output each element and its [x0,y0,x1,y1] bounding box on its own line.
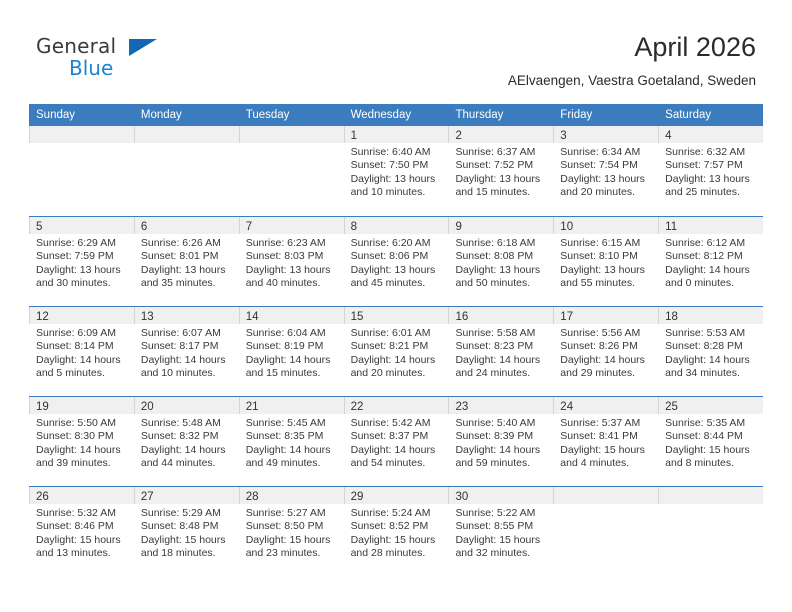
day-details: Sunrise: 5:29 AMSunset: 8:48 PMDaylight:… [134,504,239,561]
sunrise-time: Sunrise: 6:32 AM [665,146,758,159]
calendar-week-row: 1Sunrise: 6:40 AMSunset: 7:50 PMDaylight… [29,126,763,216]
sunset-time: Sunset: 8:10 PM [560,250,653,263]
day-cell[interactable]: 27Sunrise: 5:29 AMSunset: 8:48 PMDayligh… [134,487,239,576]
day-number: 20 [141,401,154,413]
sunset-time: Sunset: 7:57 PM [665,159,758,172]
daylight-duration-line1: Daylight: 15 hours [455,534,548,547]
sunset-time: Sunset: 8:41 PM [560,430,653,443]
sunrise-time: Sunrise: 6:34 AM [560,146,653,159]
sunrise-time: Sunrise: 6:09 AM [36,327,129,340]
day-number: 1 [351,130,357,142]
day-details: Sunrise: 6:34 AMSunset: 7:54 PMDaylight:… [553,143,658,200]
day-number-band: 23 [448,397,553,414]
daylight-duration-line2: and 35 minutes. [141,277,234,290]
daylight-duration-line2: and 45 minutes. [351,277,444,290]
sunrise-time: Sunrise: 6:04 AM [246,327,339,340]
daylight-duration-line2: and 24 minutes. [455,367,548,380]
day-number: 11 [665,221,677,233]
day-number-band: 17 [553,307,658,324]
weekday-header-friday: Friday [553,104,658,126]
sunset-time: Sunset: 8:55 PM [455,520,548,533]
day-number: 30 [455,491,468,503]
calendar-week-row: 5Sunrise: 6:29 AMSunset: 7:59 PMDaylight… [29,216,763,306]
daylight-duration-line1: Daylight: 14 hours [246,444,339,457]
daylight-duration-line2: and 39 minutes. [36,457,129,470]
day-details: Sunrise: 5:45 AMSunset: 8:35 PMDaylight:… [239,414,344,471]
sunrise-time: Sunrise: 5:22 AM [455,507,548,520]
sunset-time: Sunset: 8:52 PM [351,520,444,533]
day-number-band: 13 [134,307,239,324]
day-number: 28 [246,491,259,503]
day-details: Sunrise: 5:42 AMSunset: 8:37 PMDaylight:… [344,414,449,471]
daylight-duration-line2: and 10 minutes. [141,367,234,380]
day-cell[interactable]: 11Sunrise: 6:12 AMSunset: 8:12 PMDayligh… [658,217,763,306]
day-number: 2 [455,130,461,142]
weekday-header-saturday: Saturday [658,104,763,126]
day-details: Sunrise: 6:12 AMSunset: 8:12 PMDaylight:… [658,234,763,291]
day-number: 29 [351,491,364,503]
day-number-band [29,126,134,143]
day-number: 5 [36,221,42,233]
day-cell-empty [658,487,763,576]
day-cell[interactable]: 7Sunrise: 6:23 AMSunset: 8:03 PMDaylight… [239,217,344,306]
sunset-time: Sunset: 8:01 PM [141,250,234,263]
sunrise-time: Sunrise: 5:24 AM [351,507,444,520]
day-number: 12 [36,311,49,323]
daylight-duration-line1: Daylight: 14 hours [141,354,234,367]
day-number: 9 [455,221,461,233]
day-number-band [134,126,239,143]
calendar-grid: SundayMondayTuesdayWednesdayThursdayFrid… [29,104,763,576]
day-cell-empty [553,487,658,576]
sunset-time: Sunset: 8:26 PM [560,340,653,353]
daylight-duration-line2: and 18 minutes. [141,547,234,560]
day-number: 17 [560,311,573,323]
daylight-duration-line2: and 15 minutes. [246,367,339,380]
calendar-week-row: 19Sunrise: 5:50 AMSunset: 8:30 PMDayligh… [29,396,763,486]
daylight-duration-line1: Daylight: 13 hours [36,264,129,277]
day-number-band: 10 [553,217,658,234]
sunset-time: Sunset: 7:59 PM [36,250,129,263]
day-cell-empty [134,126,239,216]
sunset-time: Sunset: 8:06 PM [351,250,444,263]
sunset-time: Sunset: 8:46 PM [36,520,129,533]
triangle-icon [129,39,157,56]
sunrise-time: Sunrise: 5:53 AM [665,327,758,340]
day-cell[interactable]: 2Sunrise: 6:37 AMSunset: 7:52 PMDaylight… [448,126,553,216]
sunrise-time: Sunrise: 6:37 AM [455,146,548,159]
daylight-duration-line1: Daylight: 15 hours [351,534,444,547]
day-details: Sunrise: 5:56 AMSunset: 8:26 PMDaylight:… [553,324,658,381]
calendar-weeks: 1Sunrise: 6:40 AMSunset: 7:50 PMDaylight… [29,126,763,576]
sunrise-time: Sunrise: 6:07 AM [141,327,234,340]
day-details: Sunrise: 6:07 AMSunset: 8:17 PMDaylight:… [134,324,239,381]
weekday-header-wednesday: Wednesday [344,104,449,126]
daylight-duration-line1: Daylight: 14 hours [665,264,758,277]
daylight-duration-line2: and 49 minutes. [246,457,339,470]
weekday-header-sunday: Sunday [29,104,134,126]
daylight-duration-line2: and 40 minutes. [246,277,339,290]
day-number: 26 [36,491,49,503]
sunrise-time: Sunrise: 6:15 AM [560,237,653,250]
daylight-duration-line2: and 5 minutes. [36,367,129,380]
daylight-duration-line1: Daylight: 13 hours [351,173,444,186]
daylight-duration-line1: Daylight: 14 hours [351,444,444,457]
day-details: Sunrise: 5:48 AMSunset: 8:32 PMDaylight:… [134,414,239,471]
day-number: 25 [665,401,678,413]
sunrise-time: Sunrise: 6:20 AM [351,237,444,250]
day-details [29,143,134,146]
daylight-duration-line1: Daylight: 15 hours [246,534,339,547]
weekday-header-thursday: Thursday [448,104,553,126]
sunset-time: Sunset: 8:12 PM [665,250,758,263]
day-number-band: 11 [658,217,763,234]
sunrise-time: Sunrise: 5:50 AM [36,417,129,430]
day-cell[interactable]: 19Sunrise: 5:50 AMSunset: 8:30 PMDayligh… [29,397,134,486]
day-number: 16 [455,311,468,323]
sunrise-time: Sunrise: 6:18 AM [455,237,548,250]
daylight-duration-line1: Daylight: 15 hours [141,534,234,547]
calendar-week-row: 12Sunrise: 6:09 AMSunset: 8:14 PMDayligh… [29,306,763,396]
daylight-duration-line2: and 29 minutes. [560,367,653,380]
sunset-time: Sunset: 8:37 PM [351,430,444,443]
sunrise-time: Sunrise: 6:26 AM [141,237,234,250]
day-cell[interactable]: 26Sunrise: 5:32 AMSunset: 8:46 PMDayligh… [29,487,134,576]
day-cell[interactable]: 4Sunrise: 6:32 AMSunset: 7:57 PMDaylight… [658,126,763,216]
day-number: 8 [351,221,357,233]
day-number: 18 [665,311,678,323]
day-number-band: 30 [448,487,553,504]
day-cell[interactable]: 6Sunrise: 6:26 AMSunset: 8:01 PMDaylight… [134,217,239,306]
day-number-band: 9 [448,217,553,234]
day-cell[interactable]: 13Sunrise: 6:07 AMSunset: 8:17 PMDayligh… [134,307,239,396]
day-number-band: 16 [448,307,553,324]
day-details: Sunrise: 6:29 AMSunset: 7:59 PMDaylight:… [29,234,134,291]
sunset-time: Sunset: 8:08 PM [455,250,548,263]
day-cell[interactable]: 24Sunrise: 5:37 AMSunset: 8:41 PMDayligh… [553,397,658,486]
day-details: Sunrise: 6:40 AMSunset: 7:50 PMDaylight:… [344,143,449,200]
general-blue-logo[interactable]: General Blue [36,34,166,84]
day-number: 13 [141,311,154,323]
sunrise-time: Sunrise: 5:40 AM [455,417,548,430]
day-number: 6 [141,221,147,233]
day-number-band: 29 [344,487,449,504]
daylight-duration-line2: and 10 minutes. [351,186,444,199]
day-details: Sunrise: 6:04 AMSunset: 8:19 PMDaylight:… [239,324,344,381]
day-details: Sunrise: 5:24 AMSunset: 8:52 PMDaylight:… [344,504,449,561]
sunrise-time: Sunrise: 5:32 AM [36,507,129,520]
sunrise-time: Sunrise: 5:42 AM [351,417,444,430]
day-number: 27 [141,491,154,503]
daylight-duration-line2: and 30 minutes. [36,277,129,290]
day-number-band: 12 [29,307,134,324]
logo-word-general: General [36,34,116,58]
day-cell[interactable]: 20Sunrise: 5:48 AMSunset: 8:32 PMDayligh… [134,397,239,486]
day-number-band: 20 [134,397,239,414]
sunset-time: Sunset: 8:28 PM [665,340,758,353]
title-block: April 2026 AElvaengen, Vaestra Goetaland… [508,30,756,89]
sunrise-time: Sunrise: 5:27 AM [246,507,339,520]
daylight-duration-line2: and 59 minutes. [455,457,548,470]
day-number: 10 [560,221,573,233]
day-details: Sunrise: 5:27 AMSunset: 8:50 PMDaylight:… [239,504,344,561]
daylight-duration-line2: and 55 minutes. [560,277,653,290]
day-details: Sunrise: 6:23 AMSunset: 8:03 PMDaylight:… [239,234,344,291]
daylight-duration-line1: Daylight: 15 hours [36,534,129,547]
day-cell-empty [29,126,134,216]
daylight-duration-line1: Daylight: 14 hours [351,354,444,367]
page-header: General Blue April 2026 AElvaengen, Vaes… [0,0,792,104]
daylight-duration-line1: Daylight: 13 hours [246,264,339,277]
day-cell[interactable]: 21Sunrise: 5:45 AMSunset: 8:35 PMDayligh… [239,397,344,486]
page-subtitle: AElvaengen, Vaestra Goetaland, Sweden [508,72,756,89]
daylight-duration-line1: Daylight: 13 hours [351,264,444,277]
daylight-duration-line2: and 23 minutes. [246,547,339,560]
daylight-duration-line1: Daylight: 14 hours [665,354,758,367]
day-cell[interactable]: 23Sunrise: 5:40 AMSunset: 8:39 PMDayligh… [448,397,553,486]
day-details: Sunrise: 6:20 AMSunset: 8:06 PMDaylight:… [344,234,449,291]
daylight-duration-line1: Daylight: 14 hours [36,354,129,367]
day-number: 21 [246,401,259,413]
sunrise-time: Sunrise: 6:23 AM [246,237,339,250]
sunset-time: Sunset: 8:21 PM [351,340,444,353]
day-cell[interactable]: 30Sunrise: 5:22 AMSunset: 8:55 PMDayligh… [448,487,553,576]
day-details: Sunrise: 5:35 AMSunset: 8:44 PMDaylight:… [658,414,763,471]
day-number-band: 2 [448,126,553,143]
sunrise-time: Sunrise: 5:58 AM [455,327,548,340]
weekday-header-tuesday: Tuesday [239,104,344,126]
daylight-duration-line1: Daylight: 13 hours [665,173,758,186]
day-number: 22 [351,401,364,413]
sunset-time: Sunset: 8:17 PM [141,340,234,353]
day-number-band: 3 [553,126,658,143]
daylight-duration-line2: and 20 minutes. [560,186,653,199]
sunset-time: Sunset: 8:23 PM [455,340,548,353]
daylight-duration-line1: Daylight: 14 hours [560,354,653,367]
day-details: Sunrise: 6:09 AMSunset: 8:14 PMDaylight:… [29,324,134,381]
day-number-band: 24 [553,397,658,414]
day-number: 4 [665,130,671,142]
daylight-duration-line2: and 32 minutes. [455,547,548,560]
day-number-band: 18 [658,307,763,324]
sunset-time: Sunset: 8:03 PM [246,250,339,263]
day-number-band: 21 [239,397,344,414]
day-number: 24 [560,401,573,413]
day-number-band: 1 [344,126,449,143]
daylight-duration-line1: Daylight: 14 hours [141,444,234,457]
day-details [553,504,658,507]
day-number-band: 22 [344,397,449,414]
day-number-band [658,487,763,504]
day-cell[interactable]: 3Sunrise: 6:34 AMSunset: 7:54 PMDaylight… [553,126,658,216]
day-cell[interactable]: 16Sunrise: 5:58 AMSunset: 8:23 PMDayligh… [448,307,553,396]
day-number-band [239,126,344,143]
day-number-band: 19 [29,397,134,414]
sunset-time: Sunset: 8:50 PM [246,520,339,533]
weekday-header-monday: Monday [134,104,239,126]
day-cell[interactable]: 5Sunrise: 6:29 AMSunset: 7:59 PMDaylight… [29,217,134,306]
day-cell[interactable]: 18Sunrise: 5:53 AMSunset: 8:28 PMDayligh… [658,307,763,396]
day-details: Sunrise: 5:40 AMSunset: 8:39 PMDaylight:… [448,414,553,471]
day-details: Sunrise: 5:22 AMSunset: 8:55 PMDaylight:… [448,504,553,561]
day-number-band: 28 [239,487,344,504]
daylight-duration-line2: and 50 minutes. [455,277,548,290]
daylight-duration-line2: and 15 minutes. [455,186,548,199]
daylight-duration-line1: Daylight: 13 hours [455,264,548,277]
sunset-time: Sunset: 8:48 PM [141,520,234,533]
day-number-band: 6 [134,217,239,234]
daylight-duration-line2: and 54 minutes. [351,457,444,470]
daylight-duration-line2: and 8 minutes. [665,457,758,470]
daylight-duration-line2: and 25 minutes. [665,186,758,199]
day-number-band: 25 [658,397,763,414]
day-details: Sunrise: 6:37 AMSunset: 7:52 PMDaylight:… [448,143,553,200]
day-number: 3 [560,130,566,142]
sunset-time: Sunset: 8:32 PM [141,430,234,443]
day-details: Sunrise: 6:15 AMSunset: 8:10 PMDaylight:… [553,234,658,291]
sunrise-time: Sunrise: 6:01 AM [351,327,444,340]
sunrise-time: Sunrise: 5:35 AM [665,417,758,430]
sunrise-time: Sunrise: 5:29 AM [141,507,234,520]
sunset-time: Sunset: 8:44 PM [665,430,758,443]
daylight-duration-line2: and 0 minutes. [665,277,758,290]
sunset-time: Sunset: 8:19 PM [246,340,339,353]
sunrise-time: Sunrise: 5:48 AM [141,417,234,430]
daylight-duration-line2: and 13 minutes. [36,547,129,560]
day-details: Sunrise: 6:26 AMSunset: 8:01 PMDaylight:… [134,234,239,291]
sunset-time: Sunset: 8:35 PM [246,430,339,443]
day-cell[interactable]: 10Sunrise: 6:15 AMSunset: 8:10 PMDayligh… [553,217,658,306]
day-cell[interactable]: 25Sunrise: 5:35 AMSunset: 8:44 PMDayligh… [658,397,763,486]
day-cell[interactable]: 12Sunrise: 6:09 AMSunset: 8:14 PMDayligh… [29,307,134,396]
day-cell[interactable]: 22Sunrise: 5:42 AMSunset: 8:37 PMDayligh… [344,397,449,486]
day-number: 23 [455,401,468,413]
weekday-header-row: SundayMondayTuesdayWednesdayThursdayFrid… [29,104,763,126]
daylight-duration-line1: Daylight: 14 hours [455,444,548,457]
daylight-duration-line1: Daylight: 13 hours [560,264,653,277]
sunset-time: Sunset: 7:54 PM [560,159,653,172]
sunset-time: Sunset: 8:30 PM [36,430,129,443]
day-cell[interactable]: 28Sunrise: 5:27 AMSunset: 8:50 PMDayligh… [239,487,344,576]
day-details: Sunrise: 6:01 AMSunset: 8:21 PMDaylight:… [344,324,449,381]
day-details: Sunrise: 5:37 AMSunset: 8:41 PMDaylight:… [553,414,658,471]
day-number-band: 14 [239,307,344,324]
sunset-time: Sunset: 7:52 PM [455,159,548,172]
sunrise-time: Sunrise: 5:56 AM [560,327,653,340]
daylight-duration-line2: and 20 minutes. [351,367,444,380]
day-number: 15 [351,311,364,323]
sunrise-time: Sunrise: 6:40 AM [351,146,444,159]
day-number: 7 [246,221,252,233]
day-number-band: 8 [344,217,449,234]
day-details: Sunrise: 5:53 AMSunset: 8:28 PMDaylight:… [658,324,763,381]
day-cell[interactable]: 17Sunrise: 5:56 AMSunset: 8:26 PMDayligh… [553,307,658,396]
page-title: April 2026 [508,30,756,64]
day-number: 19 [36,401,49,413]
logo-word-blue: Blue [69,56,113,80]
day-cell[interactable]: 14Sunrise: 6:04 AMSunset: 8:19 PMDayligh… [239,307,344,396]
sunrise-time: Sunrise: 6:29 AM [36,237,129,250]
day-cell[interactable]: 15Sunrise: 6:01 AMSunset: 8:21 PMDayligh… [344,307,449,396]
day-details [239,143,344,146]
day-cell[interactable]: 29Sunrise: 5:24 AMSunset: 8:52 PMDayligh… [344,487,449,576]
daylight-duration-line1: Daylight: 14 hours [455,354,548,367]
daylight-duration-line2: and 34 minutes. [665,367,758,380]
day-details: Sunrise: 5:50 AMSunset: 8:30 PMDaylight:… [29,414,134,471]
sunrise-time: Sunrise: 5:37 AM [560,417,653,430]
day-details: Sunrise: 5:32 AMSunset: 8:46 PMDaylight:… [29,504,134,561]
calendar-page: General Blue April 2026 AElvaengen, Vaes… [0,0,792,612]
day-details: Sunrise: 6:18 AMSunset: 8:08 PMDaylight:… [448,234,553,291]
day-details: Sunrise: 6:32 AMSunset: 7:57 PMDaylight:… [658,143,763,200]
daylight-duration-line1: Daylight: 13 hours [560,173,653,186]
daylight-duration-line1: Daylight: 13 hours [141,264,234,277]
daylight-duration-line1: Daylight: 15 hours [560,444,653,457]
day-number-band: 27 [134,487,239,504]
day-details: Sunrise: 5:58 AMSunset: 8:23 PMDaylight:… [448,324,553,381]
sunrise-time: Sunrise: 6:12 AM [665,237,758,250]
day-number-band: 7 [239,217,344,234]
day-number-band: 4 [658,126,763,143]
daylight-duration-line1: Daylight: 15 hours [665,444,758,457]
daylight-duration-line2: and 4 minutes. [560,457,653,470]
day-number: 14 [246,311,259,323]
day-cell[interactable]: 8Sunrise: 6:20 AMSunset: 8:06 PMDaylight… [344,217,449,306]
day-details [658,504,763,507]
day-cell-empty [239,126,344,216]
day-number-band: 15 [344,307,449,324]
day-cell[interactable]: 1Sunrise: 6:40 AMSunset: 7:50 PMDaylight… [344,126,449,216]
day-number-band: 5 [29,217,134,234]
daylight-duration-line1: Daylight: 14 hours [36,444,129,457]
day-details [134,143,239,146]
day-number-band [553,487,658,504]
daylight-duration-line2: and 28 minutes. [351,547,444,560]
daylight-duration-line2: and 44 minutes. [141,457,234,470]
day-number-band: 26 [29,487,134,504]
day-cell[interactable]: 9Sunrise: 6:18 AMSunset: 8:08 PMDaylight… [448,217,553,306]
sunset-time: Sunset: 7:50 PM [351,159,444,172]
calendar-week-row: 26Sunrise: 5:32 AMSunset: 8:46 PMDayligh… [29,486,763,576]
daylight-duration-line1: Daylight: 13 hours [455,173,548,186]
sunrise-time: Sunrise: 5:45 AM [246,417,339,430]
daylight-duration-line1: Daylight: 14 hours [246,354,339,367]
sunset-time: Sunset: 8:14 PM [36,340,129,353]
sunset-time: Sunset: 8:39 PM [455,430,548,443]
